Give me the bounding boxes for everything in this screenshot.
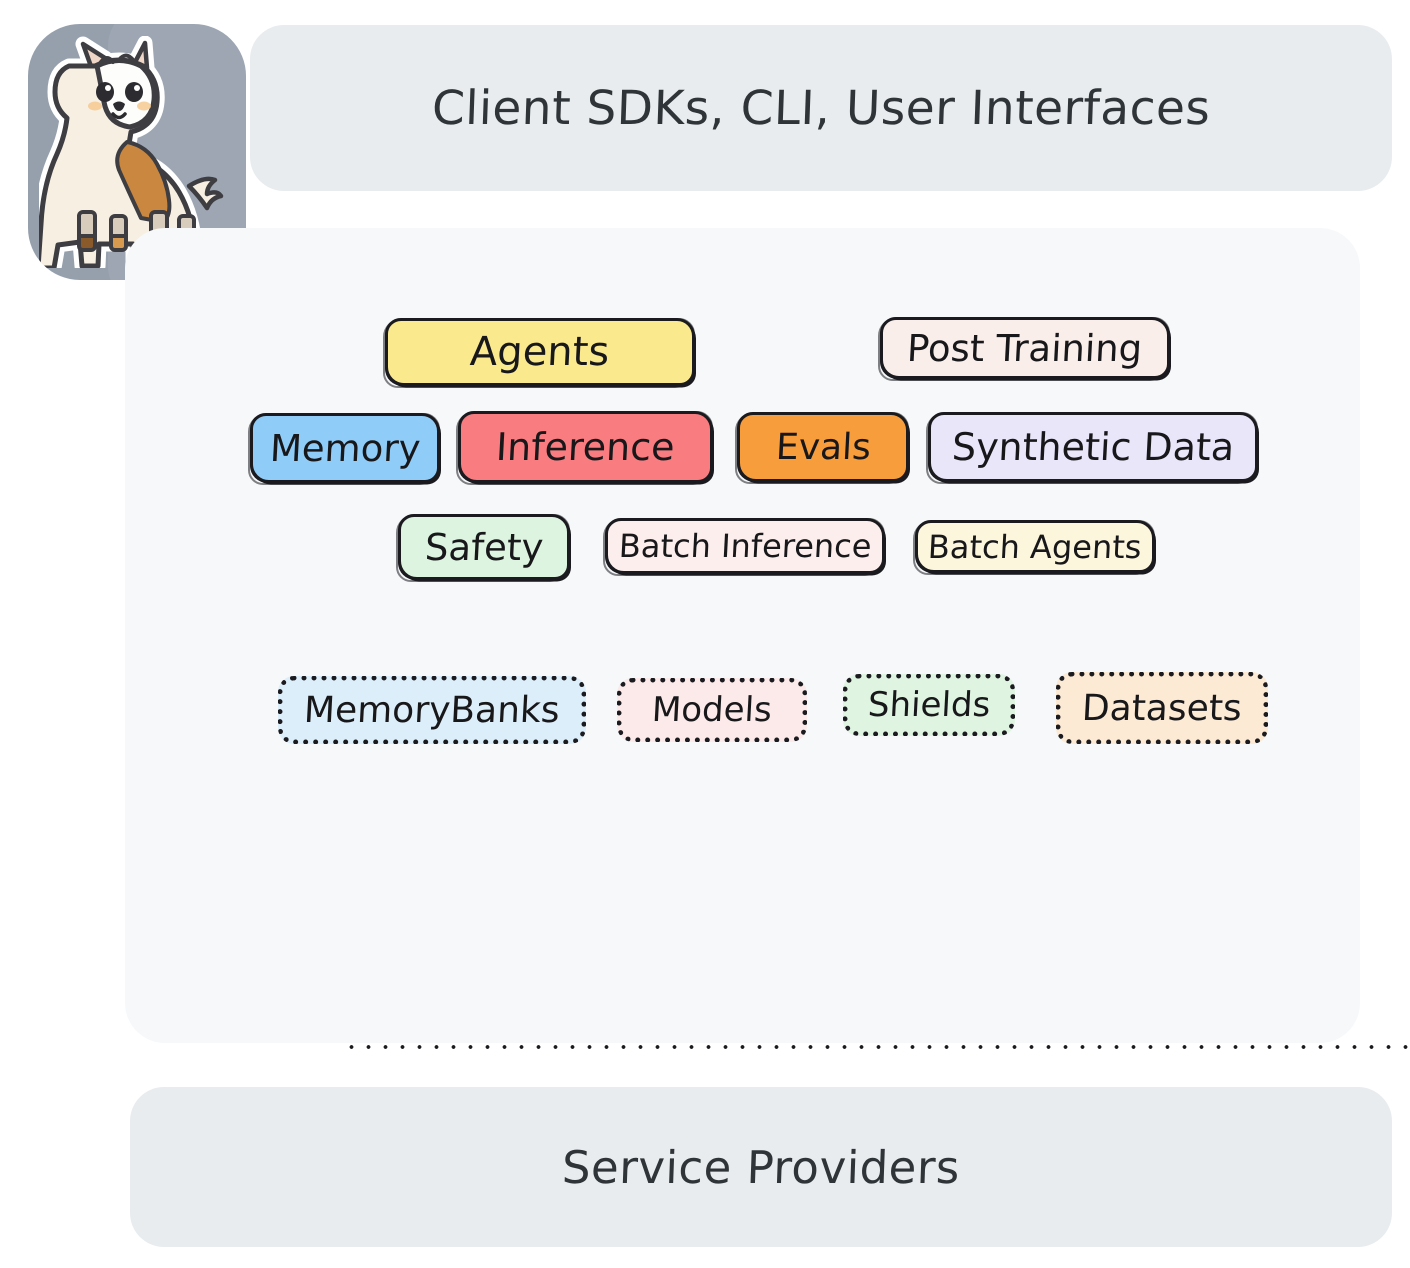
api-box-evals-label: Evals: [774, 427, 871, 468]
client-interfaces-banner: Client SDKs, CLI, User Interfaces: [250, 25, 1392, 191]
api-box-batch-agents-label: Batch Agents: [927, 528, 1143, 566]
api-box-batch-inference[interactable]: Batch Inference: [605, 518, 885, 574]
api-box-batch-inference-label: Batch Inference: [618, 527, 873, 565]
resource-box-memorybanks[interactable]: MemoryBanks: [278, 676, 586, 744]
diagram-stage: Client SDKs, CLI, User Interfaces: [0, 0, 1410, 1268]
api-box-agents[interactable]: Agents: [385, 318, 695, 386]
resource-box-shields-label: Shields: [867, 685, 991, 725]
api-box-synthetic-data-label: Synthetic Data: [951, 425, 1236, 469]
dotted-divider: [343, 1044, 1410, 1050]
api-box-safety-label: Safety: [424, 526, 545, 569]
api-box-memory-label: Memory: [269, 427, 422, 470]
api-box-post-training-label: Post Training: [906, 327, 1143, 370]
api-box-synthetic-data[interactable]: Synthetic Data: [928, 412, 1258, 482]
resource-box-models[interactable]: Models: [617, 678, 807, 742]
resource-box-datasets[interactable]: Datasets: [1056, 672, 1268, 744]
resource-box-datasets-label: Datasets: [1081, 688, 1243, 729]
api-box-batch-agents[interactable]: Batch Agents: [915, 520, 1155, 573]
api-box-safety[interactable]: Safety: [398, 514, 570, 580]
api-box-post-training[interactable]: Post Training: [880, 317, 1170, 379]
service-providers-banner: Service Providers: [130, 1087, 1392, 1247]
llama-stack-panel: AgentsPost TrainingMemoryInferenceEvalsS…: [125, 228, 1360, 1043]
api-box-inference[interactable]: Inference: [458, 411, 713, 483]
api-box-evals[interactable]: Evals: [737, 412, 909, 482]
service-providers-label: Service Providers: [561, 1141, 961, 1194]
resource-box-memorybanks-label: MemoryBanks: [303, 690, 561, 731]
client-interfaces-label: Client SDKs, CLI, User Interfaces: [431, 81, 1211, 136]
api-box-inference-label: Inference: [495, 425, 676, 469]
api-box-agents-label: Agents: [469, 329, 611, 375]
api-box-memory[interactable]: Memory: [250, 413, 440, 483]
resource-box-models-label: Models: [651, 690, 773, 730]
resource-box-shields[interactable]: Shields: [843, 674, 1015, 736]
